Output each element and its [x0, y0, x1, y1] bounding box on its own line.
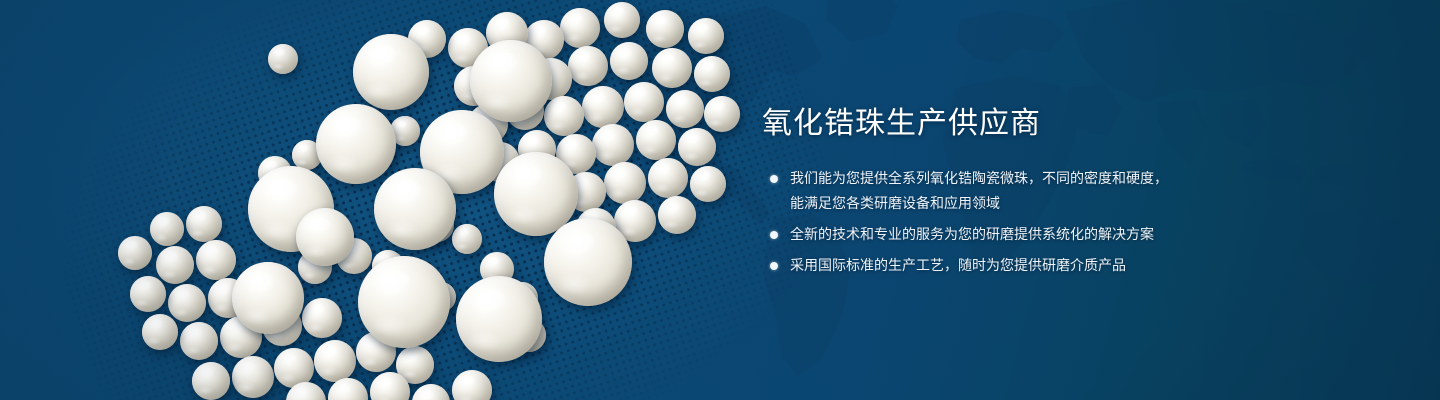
list-item-line: 采用国际标准的生产工艺，随时为您提供研磨介质产品 [790, 253, 1232, 278]
feature-list: 我们能为您提供全系列氧化锆陶瓷微珠，不同的密度和硬度， 能满足您各类研磨设备和应… [762, 166, 1232, 278]
list-item-line: 我们能为您提供全系列氧化锆陶瓷微珠，不同的密度和硬度， [790, 166, 1232, 191]
hero-banner: 氧化锆珠生产供应商 我们能为您提供全系列氧化锆陶瓷微珠，不同的密度和硬度， 能满… [0, 0, 1440, 400]
bullet-dot-icon [770, 231, 778, 239]
list-item-line: 全新的技术和专业的服务为您的研磨提供系统化的解决方案 [790, 222, 1232, 247]
list-item-line: 能满足您各类研磨设备和应用领域 [790, 191, 1232, 216]
zirconia-beads-image [0, 0, 760, 400]
halftone-texture [1, 0, 878, 400]
bullet-dot-icon [770, 262, 778, 270]
banner-content: 氧化锆珠生产供应商 我们能为您提供全系列氧化锆陶瓷微珠，不同的密度和硬度， 能满… [762, 104, 1232, 284]
list-item: 采用国际标准的生产工艺，随时为您提供研磨介质产品 [762, 253, 1232, 278]
list-item: 全新的技术和专业的服务为您的研磨提供系统化的解决方案 [762, 222, 1232, 247]
bullet-dot-icon [770, 175, 778, 183]
list-item: 我们能为您提供全系列氧化锆陶瓷微珠，不同的密度和硬度， 能满足您各类研磨设备和应… [762, 166, 1232, 216]
page-title: 氧化锆珠生产供应商 [762, 104, 1232, 144]
